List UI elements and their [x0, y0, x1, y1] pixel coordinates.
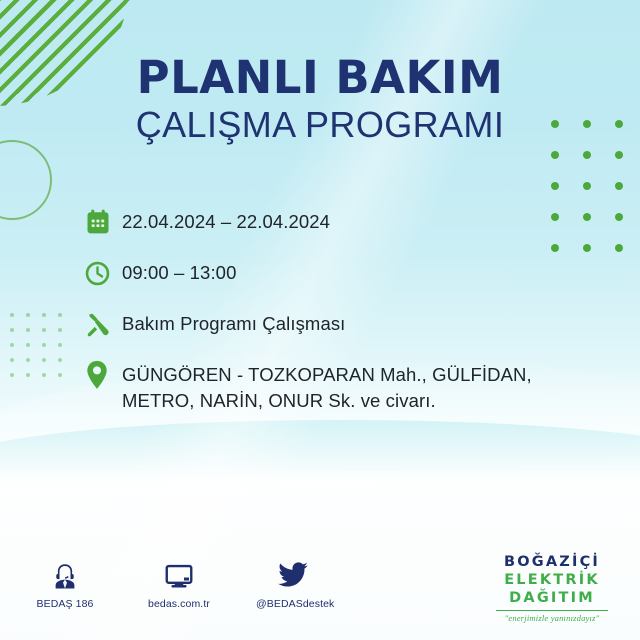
detail-date-text: 22.04.2024 – 22.04.2024: [122, 205, 330, 235]
brand-line-3: DAĞITIM: [482, 589, 622, 607]
background-wave-accent: [0, 420, 640, 480]
detail-row-time: 09:00 – 13:00: [84, 256, 584, 290]
detail-location-text: GÜNGÖREN - TOZKOPARAN Mah., GÜLFİDAN, ME…: [122, 358, 552, 415]
detail-time-text: 09:00 – 13:00: [122, 256, 236, 286]
contact-phone[interactable]: BEDAŞ 186: [28, 558, 102, 610]
contact-website-label: bedas.com.tr: [142, 598, 216, 610]
calendar-icon: [84, 205, 122, 239]
title-subtitle: ÇALIŞMA PROGRAMI: [0, 105, 640, 145]
planned-maintenance-poster: PLANLI BAKIM ÇALIŞMA PROGRAMI: [0, 0, 640, 640]
detail-row-work-type: Bakım Programı Çalışması: [84, 307, 584, 341]
contact-phone-label: BEDAŞ 186: [28, 598, 102, 610]
clock-icon: [84, 256, 122, 290]
detail-work-type-text: Bakım Programı Çalışması: [122, 307, 345, 337]
page-title: PLANLI BAKIM ÇALIŞMA PROGRAMI: [0, 54, 640, 146]
detail-row-location: GÜNGÖREN - TOZKOPARAN Mah., GÜLFİDAN, ME…: [84, 358, 584, 415]
maintenance-details-list: 22.04.2024 – 22.04.2024 09:00 – 13:00: [84, 205, 584, 415]
detail-row-date: 22.04.2024 – 22.04.2024: [84, 205, 584, 239]
dot-grid-left-decoration: [10, 313, 74, 388]
contact-website[interactable]: bedas.com.tr: [142, 558, 216, 610]
tools-icon: [84, 307, 122, 341]
brand-line-1: BOĞAZİÇİ: [482, 553, 622, 571]
twitter-bird-icon: [256, 558, 330, 594]
contact-twitter[interactable]: @BEDASdestek: [256, 558, 330, 610]
footer-contacts: BEDAŞ 186 bedas.com.tr @BEDASdestek: [28, 558, 330, 610]
monitor-icon: [142, 558, 216, 594]
brand-divider: [496, 610, 608, 611]
circle-outline-decoration: [0, 140, 52, 220]
brand-line-2: ELEKTRİK: [482, 571, 622, 589]
title-main: PLANLI BAKIM: [0, 54, 640, 101]
contact-twitter-label: @BEDASdestek: [256, 598, 330, 610]
support-headset-icon: [28, 558, 102, 594]
brand-logo: BOĞAZİÇİ ELEKTRİK DAĞITIM "enerjimizle y…: [482, 553, 622, 623]
location-pin-icon: [84, 358, 122, 392]
brand-tagline: "enerjimizle yanınızdayız": [482, 613, 622, 623]
